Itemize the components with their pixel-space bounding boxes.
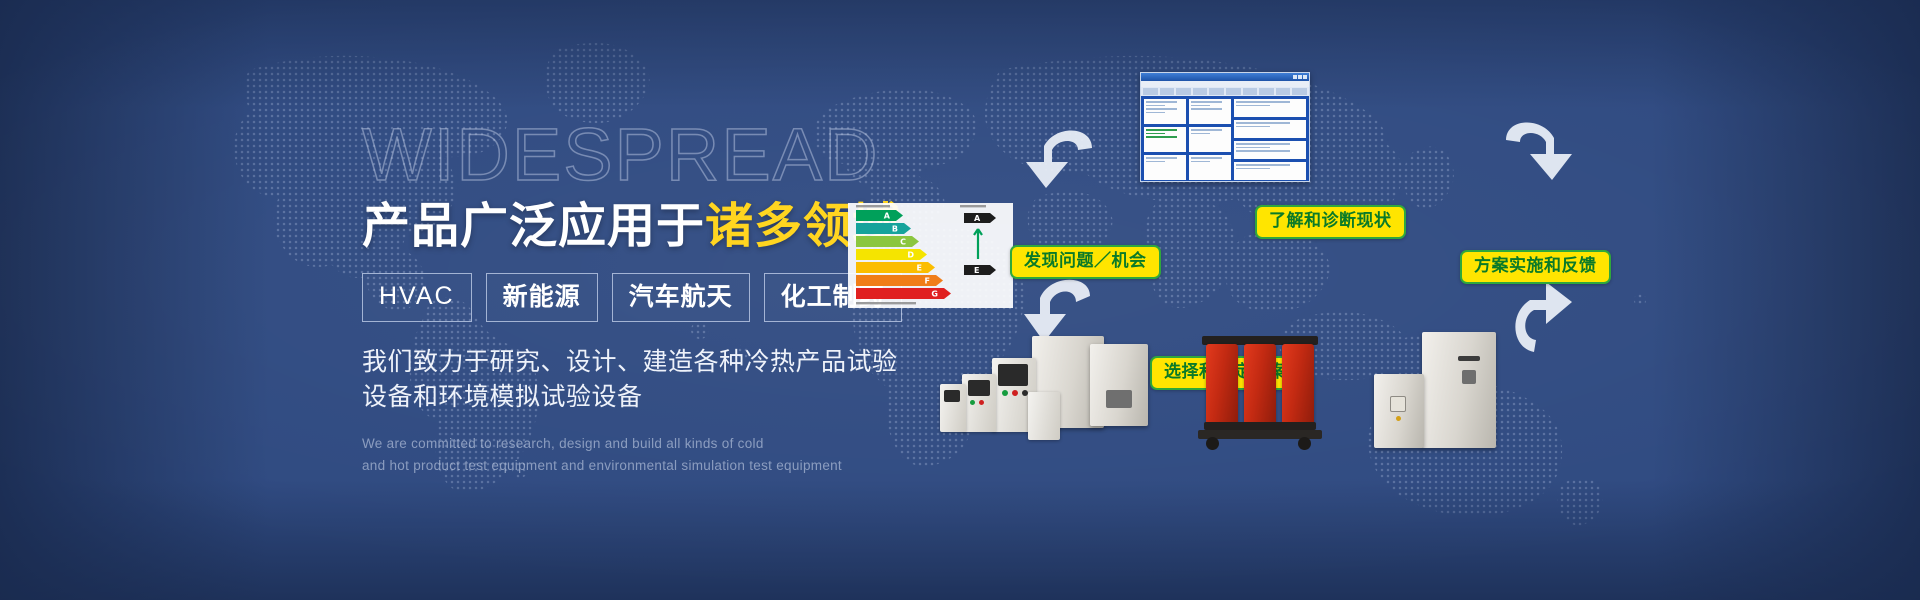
svg-text:A: A [974,214,981,223]
description-en-line-1: We are committed to research, design and… [362,433,962,455]
arrow-top-right-icon [1498,118,1580,198]
svg-text:E: E [917,264,922,273]
tag-auto-aero[interactable]: 汽车航天 [612,273,750,322]
svg-text:E: E [974,266,979,275]
headline-white-part: 产品广泛应用于 [362,198,705,254]
ghost-title-widespread: WIDESPREAD [362,118,962,192]
arrow-top-left-icon [1018,128,1098,206]
description-english: We are committed to research, design and… [362,433,962,478]
banner-stage: WIDESPREAD 产品广泛应用于诸多领域 HVAC 新能源 汽车航天 化工制… [0,0,1920,600]
tag-hvac[interactable]: HVAC [362,273,472,322]
svg-text:C: C [900,238,906,247]
control-software-screenshot [1140,72,1310,182]
window-minimize-icon [1293,75,1297,79]
window-titlebar [1141,73,1309,81]
svg-text:A: A [884,212,891,221]
svg-text:D: D [907,251,914,260]
energy-efficiency-label: A B C D E F G AE [848,203,1013,308]
product-control-cabinets [1370,332,1498,450]
cycle-step-discover[interactable]: 发现问题／机会 [1010,245,1161,279]
product-variable-frequency-drives [940,330,1160,450]
window-close-icon [1303,75,1307,79]
window-maximize-icon [1298,75,1302,79]
cycle-step-feedback[interactable]: 方案实施和反馈 [1460,250,1611,284]
product-red-transformer-coils [1196,336,1324,450]
description-en-line-2: and hot product test equipment and envir… [362,455,962,477]
product-photo-cluster [940,330,1540,450]
cycle-step-diagnose[interactable]: 了解和诊断现状 [1255,205,1406,239]
svg-text:B: B [892,225,898,234]
window-content [1141,96,1309,182]
window-toolbar [1141,87,1309,96]
svg-text:F: F [925,277,930,286]
description-cn-line-2: 设备和环境模拟试验设备 [362,379,962,415]
improvement-cycle-diagram: A B C D E F G AE [900,0,1920,600]
tag-new-energy[interactable]: 新能源 [486,273,598,322]
description-chinese: 我们致力于研究、设计、建造各种冷热产品试验 设备和环境模拟试验设备 [362,344,962,415]
description-cn-line-1: 我们致力于研究、设计、建造各种冷热产品试验 [362,344,962,380]
svg-text:G: G [931,290,938,299]
